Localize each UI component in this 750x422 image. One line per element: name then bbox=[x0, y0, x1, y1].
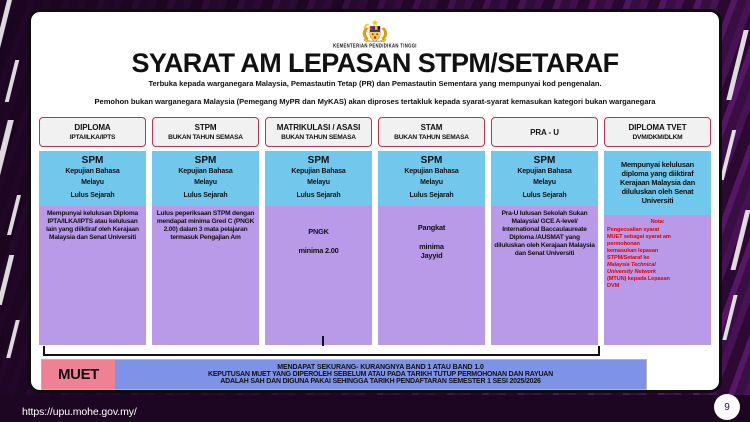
spm-title: SPM bbox=[381, 155, 482, 166]
subtitle-line-2: Pemohon bukan warganegara Malaysia (Peme… bbox=[45, 97, 705, 106]
connector-bracket bbox=[43, 346, 600, 356]
qualification-columns: DIPLOMA IPTA/ILKA/IPTS SPM Kepujian Baha… bbox=[39, 117, 711, 345]
muet-label: MUET bbox=[42, 360, 115, 389]
note-line-8: (MTUN) kepada Lepasan bbox=[607, 276, 708, 283]
column-header-line1: DIPLOMA TVET bbox=[607, 123, 708, 132]
column-header-line2: IPTA/ILKA/IPTS bbox=[42, 134, 143, 141]
column-header-line2: DVM/DKM/DLKM bbox=[607, 134, 708, 141]
note-line-9: DVM bbox=[607, 283, 708, 290]
column-purple-segment: Lulus peperiksaan STPM dengan mendapat m… bbox=[152, 206, 259, 345]
blue-line-2: Melayu bbox=[494, 179, 595, 187]
spm-title: SPM bbox=[155, 155, 256, 166]
blue-line-3: Lulus Sejarah bbox=[381, 192, 482, 200]
column-diploma-tvet: DIPLOMA TVET DVM/DKM/DLKM Mempunyai kelu… bbox=[604, 117, 711, 345]
blue-line-2: Melayu bbox=[268, 179, 369, 187]
blue-line-2: Melayu bbox=[381, 179, 482, 187]
column-header-line1: STPM bbox=[155, 123, 256, 132]
column-purple-segment: Pra-U lulusan Sekolah Sukan Malaysia/ GC… bbox=[491, 206, 598, 345]
column-blue-segment: SPM Kepujian Bahasa Melayu Lulus Sejarah bbox=[39, 151, 146, 206]
column-blue-segment: SPM Kepujian Bahasa Melayu Lulus Sejarah bbox=[491, 151, 598, 206]
subtitle-line-1: Terbuka kepada warganegara Malaysia, Pem… bbox=[45, 79, 705, 88]
blue-line-1: Kepujian Bahasa bbox=[268, 168, 369, 176]
column-purple-segment: PNGK minima 2.00 bbox=[265, 206, 372, 345]
muet-line-2: KEPUTUSAN MUET YANG DIPEROLEH SEBELUM AT… bbox=[208, 371, 553, 378]
note-block: Nota: Pengecualian syarat MUET sebagai s… bbox=[604, 215, 711, 292]
note-line-7: University Network bbox=[607, 269, 708, 276]
malaysia-coat-of-arms-icon bbox=[358, 18, 392, 42]
column-header-line2: BUKAN TAHUN SEMASA bbox=[155, 134, 256, 141]
column-header[interactable]: MATRIKULASI / ASASI BUKAN TAHUN SEMASA bbox=[265, 117, 372, 147]
footer-url[interactable]: https://upu.mohe.gov.my/ bbox=[22, 406, 137, 418]
note-line-6: Malaysia Technical bbox=[607, 262, 708, 269]
blue-body: Mempunyai kelulusan diploma yang diiktir… bbox=[607, 161, 708, 205]
blue-line-3: Lulus Sejarah bbox=[494, 192, 595, 200]
column-purple-segment: Pangkat minima Jayyid bbox=[378, 206, 485, 345]
purple-body: Lulus peperiksaan STPM dengan mendapat m… bbox=[155, 210, 256, 242]
ministry-logo-block: KEMENTERIAN PENDIDIKAN TINGGI bbox=[31, 18, 719, 48]
column-stpm: STPM BUKAN TAHUN SEMASA SPM Kepujian Bah… bbox=[152, 117, 259, 345]
blue-line-1: Kepujian Bahasa bbox=[42, 168, 143, 176]
column-matrikulasi-asasi: MATRIKULASI / ASASI BUKAN TAHUN SEMASA S… bbox=[265, 117, 372, 345]
page-title: SYARAT AM LEPASAN STPM/SETARAF bbox=[31, 48, 719, 79]
blue-line-1: Kepujian Bahasa bbox=[381, 168, 482, 176]
column-blue-segment: SPM Kepujian Bahasa Melayu Lulus Sejarah bbox=[265, 151, 372, 206]
column-header[interactable]: DIPLOMA TVET DVM/DKM/DLKM bbox=[604, 117, 711, 147]
blue-line-2: Melayu bbox=[155, 179, 256, 187]
spm-title: SPM bbox=[268, 155, 369, 166]
column-blue-segment: SPM Kepujian Bahasa Melayu Lulus Sejarah bbox=[378, 151, 485, 206]
column-header[interactable]: PRA - U bbox=[491, 117, 598, 147]
column-header-line1: STAM bbox=[381, 123, 482, 132]
column-header-line1: PRA - U bbox=[494, 128, 595, 137]
note-line-4: kemasukan lepasan bbox=[607, 248, 708, 255]
note-line-3: permohonan bbox=[607, 241, 708, 248]
column-header-line1: DIPLOMA bbox=[42, 123, 143, 132]
purple-body: Pra-U lulusan Sekolah Sukan Malaysia/ GC… bbox=[494, 210, 595, 257]
purple-line-2: minima 2.00 bbox=[268, 247, 369, 256]
column-diploma: DIPLOMA IPTA/ILKA/IPTS SPM Kepujian Baha… bbox=[39, 117, 146, 345]
column-header-line2: BUKAN TAHUN SEMASA bbox=[268, 134, 369, 141]
slide-root: KEMENTERIAN PENDIDIKAN TINGGI SYARAT AM … bbox=[0, 0, 750, 422]
purple-line-1: Pangkat bbox=[381, 210, 482, 233]
blue-line-3: Lulus Sejarah bbox=[155, 192, 256, 200]
note-title: Nota: bbox=[607, 219, 708, 226]
blue-line-3: Lulus Sejarah bbox=[42, 192, 143, 200]
blue-line-1: Kepujian Bahasa bbox=[494, 168, 595, 176]
column-header-line1: MATRIKULASI / ASASI bbox=[268, 123, 369, 132]
note-line-5: STPM/Setaraf ke bbox=[607, 255, 708, 262]
column-header[interactable]: STPM BUKAN TAHUN SEMASA bbox=[152, 117, 259, 147]
column-header-line2: BUKAN TAHUN SEMASA bbox=[381, 134, 482, 141]
column-note-segment: Nota: Pengecualian syarat MUET sebagai s… bbox=[604, 215, 711, 345]
spm-title: SPM bbox=[494, 155, 595, 166]
page-number-badge: 9 bbox=[714, 394, 740, 420]
blue-line-3: Lulus Sejarah bbox=[268, 192, 369, 200]
muet-line-1: MENDAPAT SEKURANG- KURANGNYA BAND 1 ATAU… bbox=[277, 364, 484, 371]
note-line-2: MUET sebagai syarat am bbox=[607, 234, 708, 241]
column-pra-u: PRA - U SPM Kepujian Bahasa Melayu Lulus… bbox=[491, 117, 598, 345]
purple-line-3: Jayyid bbox=[381, 252, 482, 261]
slide-card: KEMENTERIAN PENDIDIKAN TINGGI SYARAT AM … bbox=[28, 9, 722, 393]
muet-bar: MUET MENDAPAT SEKURANG- KURANGNYA BAND 1… bbox=[41, 359, 647, 390]
purple-line-1: PNGK bbox=[268, 210, 369, 237]
note-line-1: Pengecualian syarat bbox=[607, 227, 708, 234]
muet-requirements: MENDAPAT SEKURANG- KURANGNYA BAND 1 ATAU… bbox=[115, 360, 646, 389]
blue-line-2: Melayu bbox=[42, 179, 143, 187]
column-stam: STAM BUKAN TAHUN SEMASA SPM Kepujian Bah… bbox=[378, 117, 485, 345]
connector-stem bbox=[322, 336, 324, 346]
column-header[interactable]: DIPLOMA IPTA/ILKA/IPTS bbox=[39, 117, 146, 147]
column-purple-segment: Mempunyai kelulusan Diploma IPTA/ILKA/IP… bbox=[39, 206, 146, 345]
purple-body: Mempunyai kelulusan Diploma IPTA/ILKA/IP… bbox=[42, 210, 143, 242]
blue-line-1: Kepujian Bahasa bbox=[155, 168, 256, 176]
column-blue-segment: Mempunyai kelulusan diploma yang diiktir… bbox=[604, 151, 711, 215]
column-header[interactable]: STAM BUKAN TAHUN SEMASA bbox=[378, 117, 485, 147]
column-blue-segment: SPM Kepujian Bahasa Melayu Lulus Sejarah bbox=[152, 151, 259, 206]
spm-title: SPM bbox=[42, 155, 143, 166]
muet-line-3: ADALAH SAH DAN DIGUNA PAKAI SEHINGGA TAR… bbox=[220, 378, 541, 385]
